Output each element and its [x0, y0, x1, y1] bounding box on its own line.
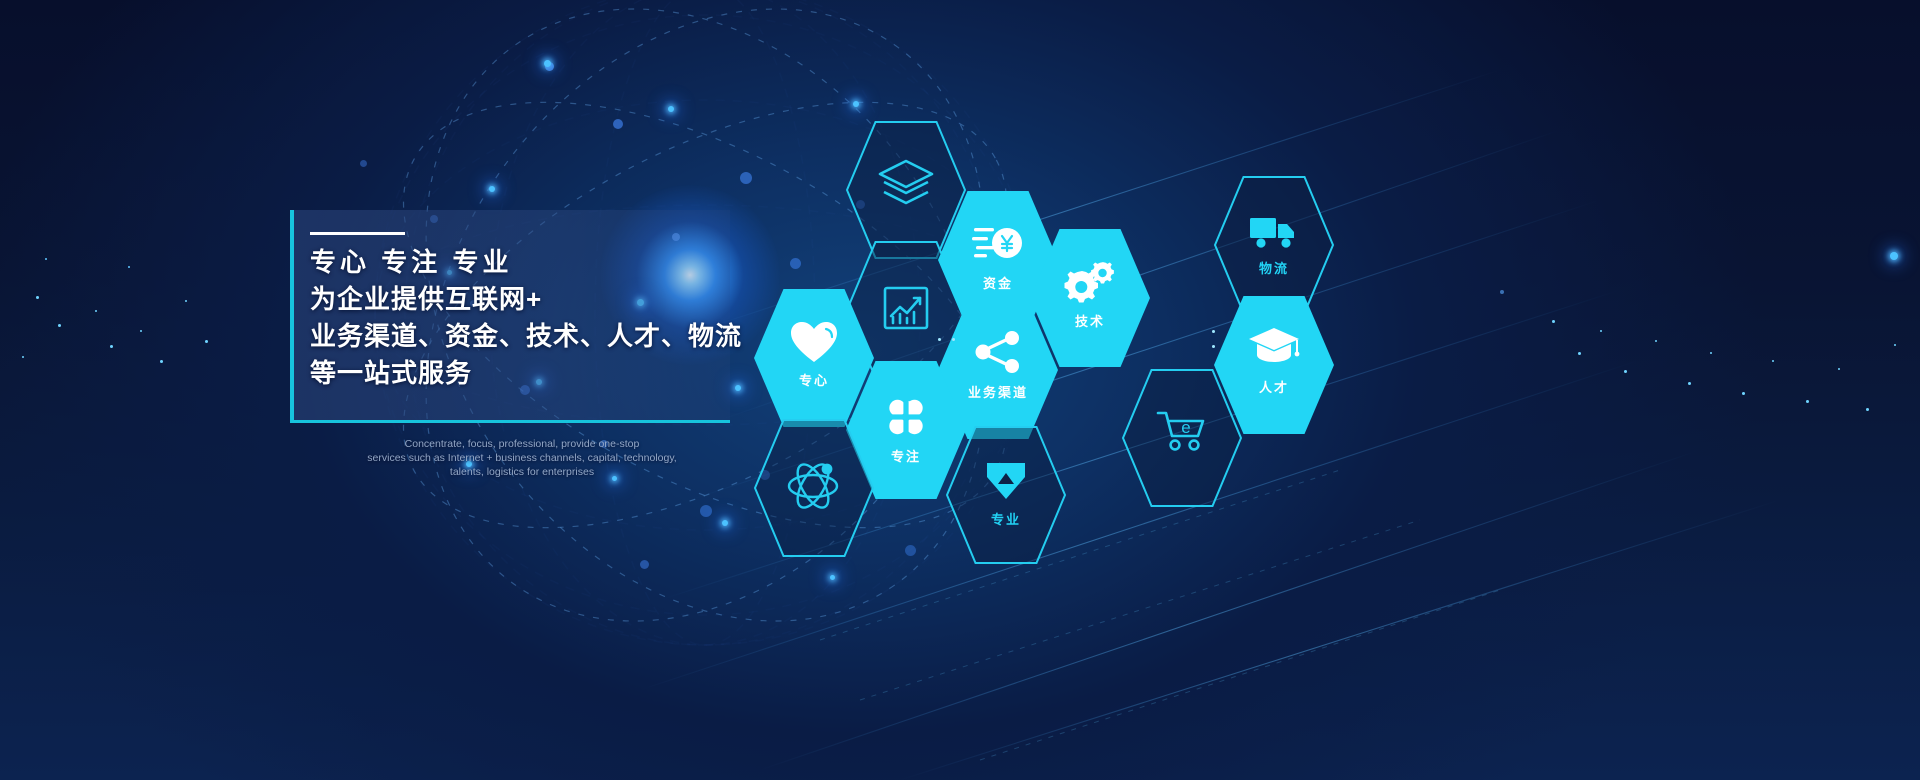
svg-text:e: e [1181, 418, 1190, 437]
hex-atom[interactable] [753, 418, 875, 558]
headline-line-2: 为企业提供互联网+ [310, 281, 740, 318]
headline-group: 专心 专注 专业 为企业提供互联网+ 业务渠道、资金、技术、人才、物流 等一站式… [310, 244, 740, 392]
hex-ecommerce[interactable]: e [1121, 368, 1243, 508]
hero-banner: 专心 专注 专业 为企业提供互联网+ 业务渠道、资金、技术、人才、物流 等一站式… [0, 0, 1920, 780]
hex-professional-label: 专业 [945, 509, 1067, 528]
headline-line-4: 等一站式服务 [310, 355, 740, 392]
headline-line-1: 专心 专注 专业 [310, 244, 740, 281]
hex-logistics-label: 物流 [1213, 258, 1335, 277]
subtitle-group: Concentrate, focus, professional, provid… [312, 437, 732, 479]
atom-icon [753, 458, 875, 510]
subtitle-line-2: services such as Internet + business cha… [312, 451, 732, 465]
diamond-icon [945, 459, 1067, 503]
graduation-cap-icon [1213, 325, 1335, 367]
title-rule [310, 232, 405, 235]
heart-icon [753, 320, 875, 364]
subtitle-line-1: Concentrate, focus, professional, provid… [312, 437, 732, 451]
e-cart-icon: e [1121, 410, 1243, 454]
headline-line-3: 业务渠道、资金、技术、人才、物流 [310, 318, 740, 355]
hex-professional[interactable]: 专业 [945, 425, 1067, 565]
truck-icon [1213, 213, 1335, 251]
hex-logistics[interactable]: 物流 [1213, 175, 1335, 315]
subtitle-line-3: talents, logistics for enterprises [312, 465, 732, 479]
